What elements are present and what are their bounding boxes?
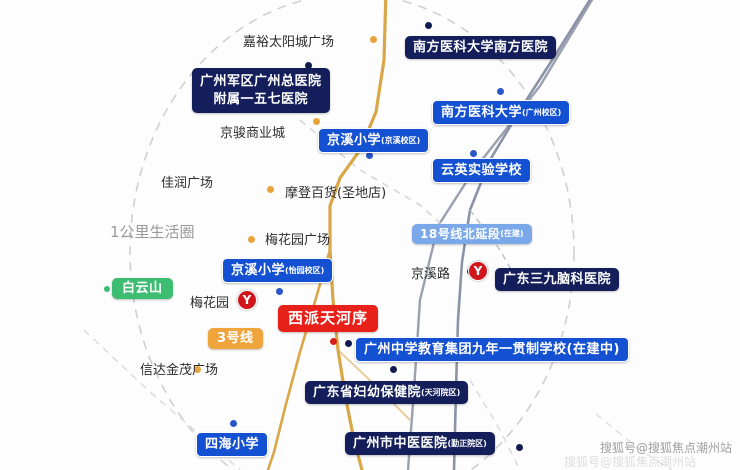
metro-line-3-branch [268, 250, 330, 470]
poi-label-gz-tcm-hospital-sub: (勤正院区) [448, 440, 487, 448]
poi-label-yunying-school[interactable]: 云英实验学校 [432, 158, 531, 183]
metro-logo-icon: Y [237, 290, 257, 310]
station-glyph: Y [474, 265, 483, 277]
poi-dot-sihai [230, 420, 237, 427]
poi-label-nanfang-university-sub: (广州校区) [522, 109, 561, 117]
poi-label-gd-maternal-hospital-text: 广东省妇幼保健院 [313, 386, 421, 399]
map-canvas: 嘉裕太阳城广场 京骏商业城 佳润广场 摩登百货(圣地店) 梅花园广场 京溪路 梅… [0, 0, 740, 470]
poi-label-gz-middle-school-group-text: 广州中学教育集团九年一贯制学校(在建中) [364, 343, 620, 356]
label-meihuayuan-sq: 梅花园广场 [265, 229, 330, 248]
poi-label-jingxi-primary-jingxi-text: 京溪小学 [327, 134, 381, 147]
poi-label-gd-maternal-hospital-sub: (天河院区) [421, 389, 460, 397]
poi-dot-jingxi-jx [366, 152, 373, 159]
station-jingxilu[interactable]: Y [468, 261, 486, 279]
metro-line-3-label-text: 3号线 [217, 332, 254, 345]
poi-label-gd39-brain-hospital[interactable]: 广东三九脑科医院 [495, 268, 619, 291]
poi-label-gd-maternal-hospital[interactable]: 广东省妇幼保健院 (天河院区) [305, 381, 468, 404]
poi-dot-baiyunshan [104, 286, 110, 292]
poi-label-army157[interactable]: 广州军区广州总医院 附属一五七医院 [192, 68, 330, 113]
metro-logo-icon: Y [468, 261, 488, 281]
poi-dot-gd-fuyou [390, 366, 397, 373]
station-meihuayuan[interactable]: Y [237, 290, 255, 308]
metro-line-18-label-text: 18号线北延段 [420, 228, 500, 240]
poi-dot-yunying [470, 150, 477, 157]
label-meihuayuan-st: 梅花园 [190, 292, 229, 311]
label-jiayu: 嘉裕太阳城广场 [243, 31, 334, 50]
poi-dot-nanfang-univ [497, 88, 504, 95]
poi-dot-gz-tcm [516, 444, 523, 451]
poi-label-jingxi-primary-jingxi[interactable]: 京溪小学 (京溪校区) [318, 128, 429, 153]
poi-label-nanfang-university-text: 南方医科大学 [441, 106, 522, 119]
poi-dot-jiayu [370, 36, 377, 43]
poi-label-jingxi-primary-yiyuan-sub: (怡园校区) [285, 267, 324, 275]
poi-label-sihai-primary-text: 四海小学 [205, 438, 259, 451]
poi-label-baiyunshan[interactable]: 白云山 [112, 278, 173, 299]
road-grey-s [470, 380, 520, 470]
poi-dot-jingxi-yiyuan [276, 288, 283, 295]
poi-label-jingxi-primary-yiyuan-text: 京溪小学 [231, 264, 285, 277]
poi-label-gz-tcm-hospital[interactable]: 广州市中医医院 (勤正院区) [345, 432, 495, 455]
poi-label-nanfang-hospital[interactable]: 南方医科大学南方医院 [405, 36, 556, 59]
poi-label-army157-line1: 广州军区广州总医院 [200, 73, 322, 91]
project-label-xipai-tianhexu-text: 西派天河序 [288, 311, 368, 326]
label-xindajinmao: 信达金茂广场 [140, 359, 218, 378]
watermark-secondary: 搜狐号@搜狐焦点潮州站 [564, 453, 696, 470]
project-label-xipai-tianhexu[interactable]: 西派天河序 [278, 305, 378, 332]
poi-dot-jiarun [313, 118, 320, 125]
poi-label-sihai-primary[interactable]: 四海小学 [196, 432, 268, 457]
poi-label-yunying-school-text: 云英实验学校 [441, 164, 522, 177]
poi-label-jingxi-primary-jingxi-sub: (京溪校区) [381, 137, 420, 145]
poi-label-gd39-brain-hospital-text: 广东三九脑科医院 [503, 273, 611, 286]
station-glyph: Y [243, 294, 252, 306]
metro-line-3-label[interactable]: 3号线 [208, 328, 263, 349]
label-jingjun: 京骏商业城 [220, 122, 285, 141]
label-jiarun: 佳润广场 [161, 172, 213, 191]
poi-label-nanfang-university[interactable]: 南方医科大学 (广州校区) [432, 100, 570, 125]
poi-label-jingxi-primary-yiyuan[interactable]: 京溪小学 (怡园校区) [222, 258, 333, 283]
metro-line-18-label[interactable]: 18号线北延段 (在建) [412, 224, 532, 244]
poi-dot-meihuayuan-sq [248, 236, 255, 243]
poi-label-army157-line2: 附属一五七医院 [214, 91, 309, 109]
poi-label-baiyunshan-text: 白云山 [122, 282, 163, 295]
poi-dot-xipai [330, 338, 337, 345]
label-life-circle: 1公里生活圈 [110, 221, 195, 242]
label-jingxilu: 京溪路 [411, 263, 450, 282]
poi-label-gz-tcm-hospital-text: 广州市中医医院 [353, 437, 448, 450]
poi-dot-nanfang-hosp [425, 22, 432, 29]
label-modeng: 摩登百货(圣地店) [285, 182, 386, 201]
poi-label-nanfang-hospital-text: 南方医科大学南方医院 [413, 41, 548, 54]
poi-dot-gz-middle [345, 340, 352, 347]
metro-line-18-label-sub: (在建) [500, 230, 523, 238]
poi-dot-modeng [267, 186, 274, 193]
poi-label-gz-middle-school-group[interactable]: 广州中学教育集团九年一贯制学校(在建中) [355, 337, 629, 362]
